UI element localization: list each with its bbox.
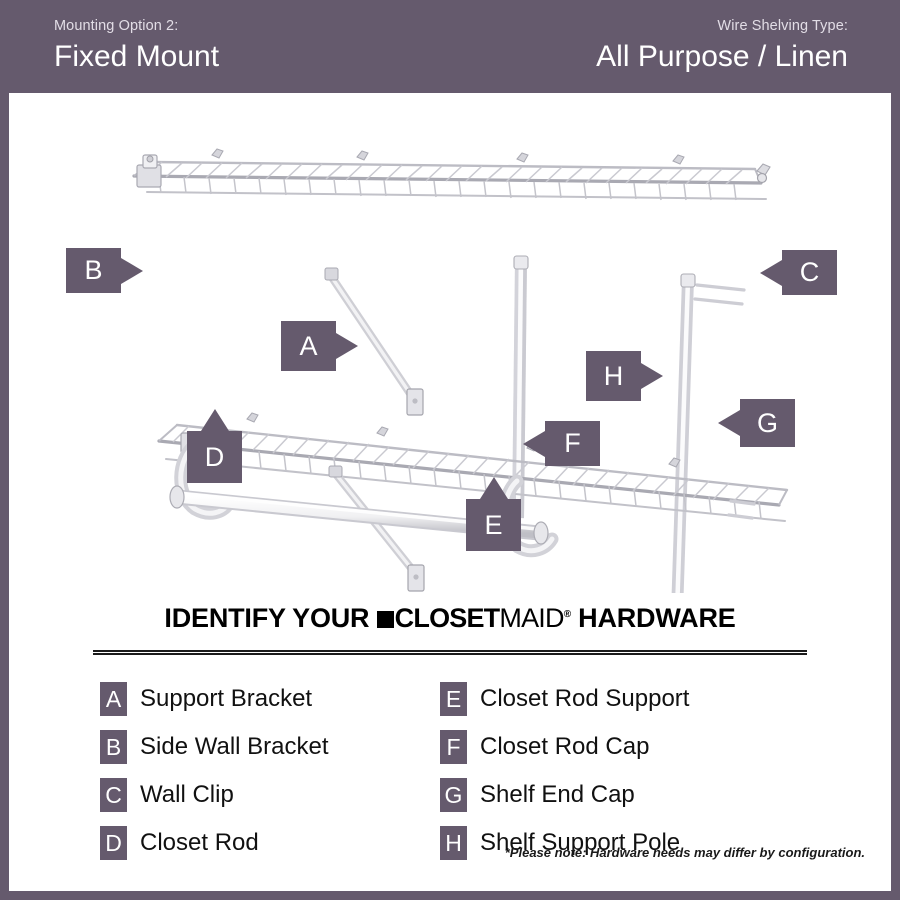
legend-footnote: *Please note: Hardware needs may differ … xyxy=(505,845,865,860)
legend-label-g: Shelf End Cap xyxy=(480,781,635,809)
logo-closet-text: CLOSET xyxy=(395,602,500,634)
legend-heading: IDENTIFY YOUR CLOSETMAID® HARDWARE xyxy=(9,602,891,641)
callout-h-letter: H xyxy=(604,363,624,390)
shelving-illustration-svg xyxy=(9,93,891,593)
wall-clip-part xyxy=(757,164,770,183)
legend-item-a: A Support Bracket xyxy=(100,675,440,723)
legend-item-d: D Closet Rod xyxy=(100,819,440,867)
lower-shelf xyxy=(159,345,787,521)
callout-h[interactable]: H xyxy=(586,351,641,401)
legend-badge-f: F xyxy=(440,730,467,764)
legend-badge-g: G xyxy=(440,778,467,812)
callout-a-arrow-icon xyxy=(336,333,358,359)
callout-d[interactable]: D xyxy=(187,431,242,483)
legend-item-f: F Closet Rod Cap xyxy=(440,723,800,771)
shelf-end-cap-part xyxy=(729,501,754,518)
legend-badge-d: D xyxy=(100,826,127,860)
legend-badge-e: E xyxy=(440,682,467,716)
legend-item-e: E Closet Rod Support xyxy=(440,675,800,723)
shelving-type-title: All Purpose / Linen xyxy=(596,37,848,77)
header-right-block: Wire Shelving Type: All Purpose / Linen xyxy=(596,17,848,77)
callout-b[interactable]: B xyxy=(66,248,121,293)
logo-registered-icon: ® xyxy=(564,599,571,631)
legend-grid: A Support Bracket E Closet Rod Support B… xyxy=(100,675,800,867)
callout-e-letter: E xyxy=(484,512,502,539)
closetmaid-logo: CLOSETMAID® xyxy=(377,602,571,641)
legend-badge-b: B xyxy=(100,730,127,764)
callout-c[interactable]: C xyxy=(782,250,837,295)
side-wall-bracket-part xyxy=(137,155,161,187)
callout-b-letter: B xyxy=(84,257,102,284)
support-bracket-part-2 xyxy=(329,466,424,591)
shelving-type-kicker: Wire Shelving Type: xyxy=(596,17,848,35)
callout-e[interactable]: E xyxy=(466,499,521,551)
mounting-option-title: Fixed Mount xyxy=(54,37,219,77)
callout-a-letter: A xyxy=(299,333,317,360)
legend-section: IDENTIFY YOUR CLOSETMAID® HARDWARE A Sup… xyxy=(9,593,891,867)
legend-badge-a: A xyxy=(100,682,127,716)
callout-g[interactable]: G xyxy=(740,399,795,447)
legend-heading-suffix: HARDWARE xyxy=(571,603,736,633)
logo-maid-text: MAID xyxy=(499,602,563,634)
callout-g-arrow-icon xyxy=(718,410,740,436)
legend-label-d: Closet Rod xyxy=(140,829,259,857)
legend-label-e: Closet Rod Support xyxy=(480,685,689,713)
callout-f-arrow-icon xyxy=(523,431,545,457)
header-bar: Mounting Option 2: Fixed Mount Wire Shel… xyxy=(0,0,900,93)
callout-d-arrow-icon xyxy=(201,409,229,431)
shelving-diagram: B A C H D E xyxy=(9,93,891,593)
top-shelf xyxy=(134,149,766,200)
callout-f-letter: F xyxy=(564,430,581,457)
legend-label-f: Closet Rod Cap xyxy=(480,733,649,761)
mounting-option-kicker: Mounting Option 2: xyxy=(54,17,219,35)
legend-item-c: C Wall Clip xyxy=(100,771,440,819)
callout-b-arrow-icon xyxy=(121,258,143,284)
callout-h-arrow-icon xyxy=(641,363,663,389)
legend-heading-prefix: IDENTIFY YOUR xyxy=(164,603,376,633)
logo-square-icon xyxy=(377,611,394,628)
content-canvas: B A C H D E xyxy=(9,93,891,891)
legend-label-a: Support Bracket xyxy=(140,685,312,713)
legend-badge-h: H xyxy=(440,826,467,860)
callout-c-arrow-icon xyxy=(760,260,782,286)
callout-d-letter: D xyxy=(205,444,225,471)
legend-label-b: Side Wall Bracket xyxy=(140,733,329,761)
legend-item-b: B Side Wall Bracket xyxy=(100,723,440,771)
callout-c-letter: C xyxy=(800,259,820,286)
legend-label-c: Wall Clip xyxy=(140,781,234,809)
header-left-block: Mounting Option 2: Fixed Mount xyxy=(54,17,219,77)
callout-f[interactable]: F xyxy=(545,421,600,466)
page-root: Mounting Option 2: Fixed Mount Wire Shel… xyxy=(0,0,900,900)
callout-e-arrow-icon xyxy=(480,477,508,499)
callout-g-letter: G xyxy=(757,410,778,437)
legend-divider xyxy=(93,650,807,653)
legend-item-g: G Shelf End Cap xyxy=(440,771,800,819)
legend-badge-c: C xyxy=(100,778,127,812)
callout-a[interactable]: A xyxy=(281,321,336,371)
